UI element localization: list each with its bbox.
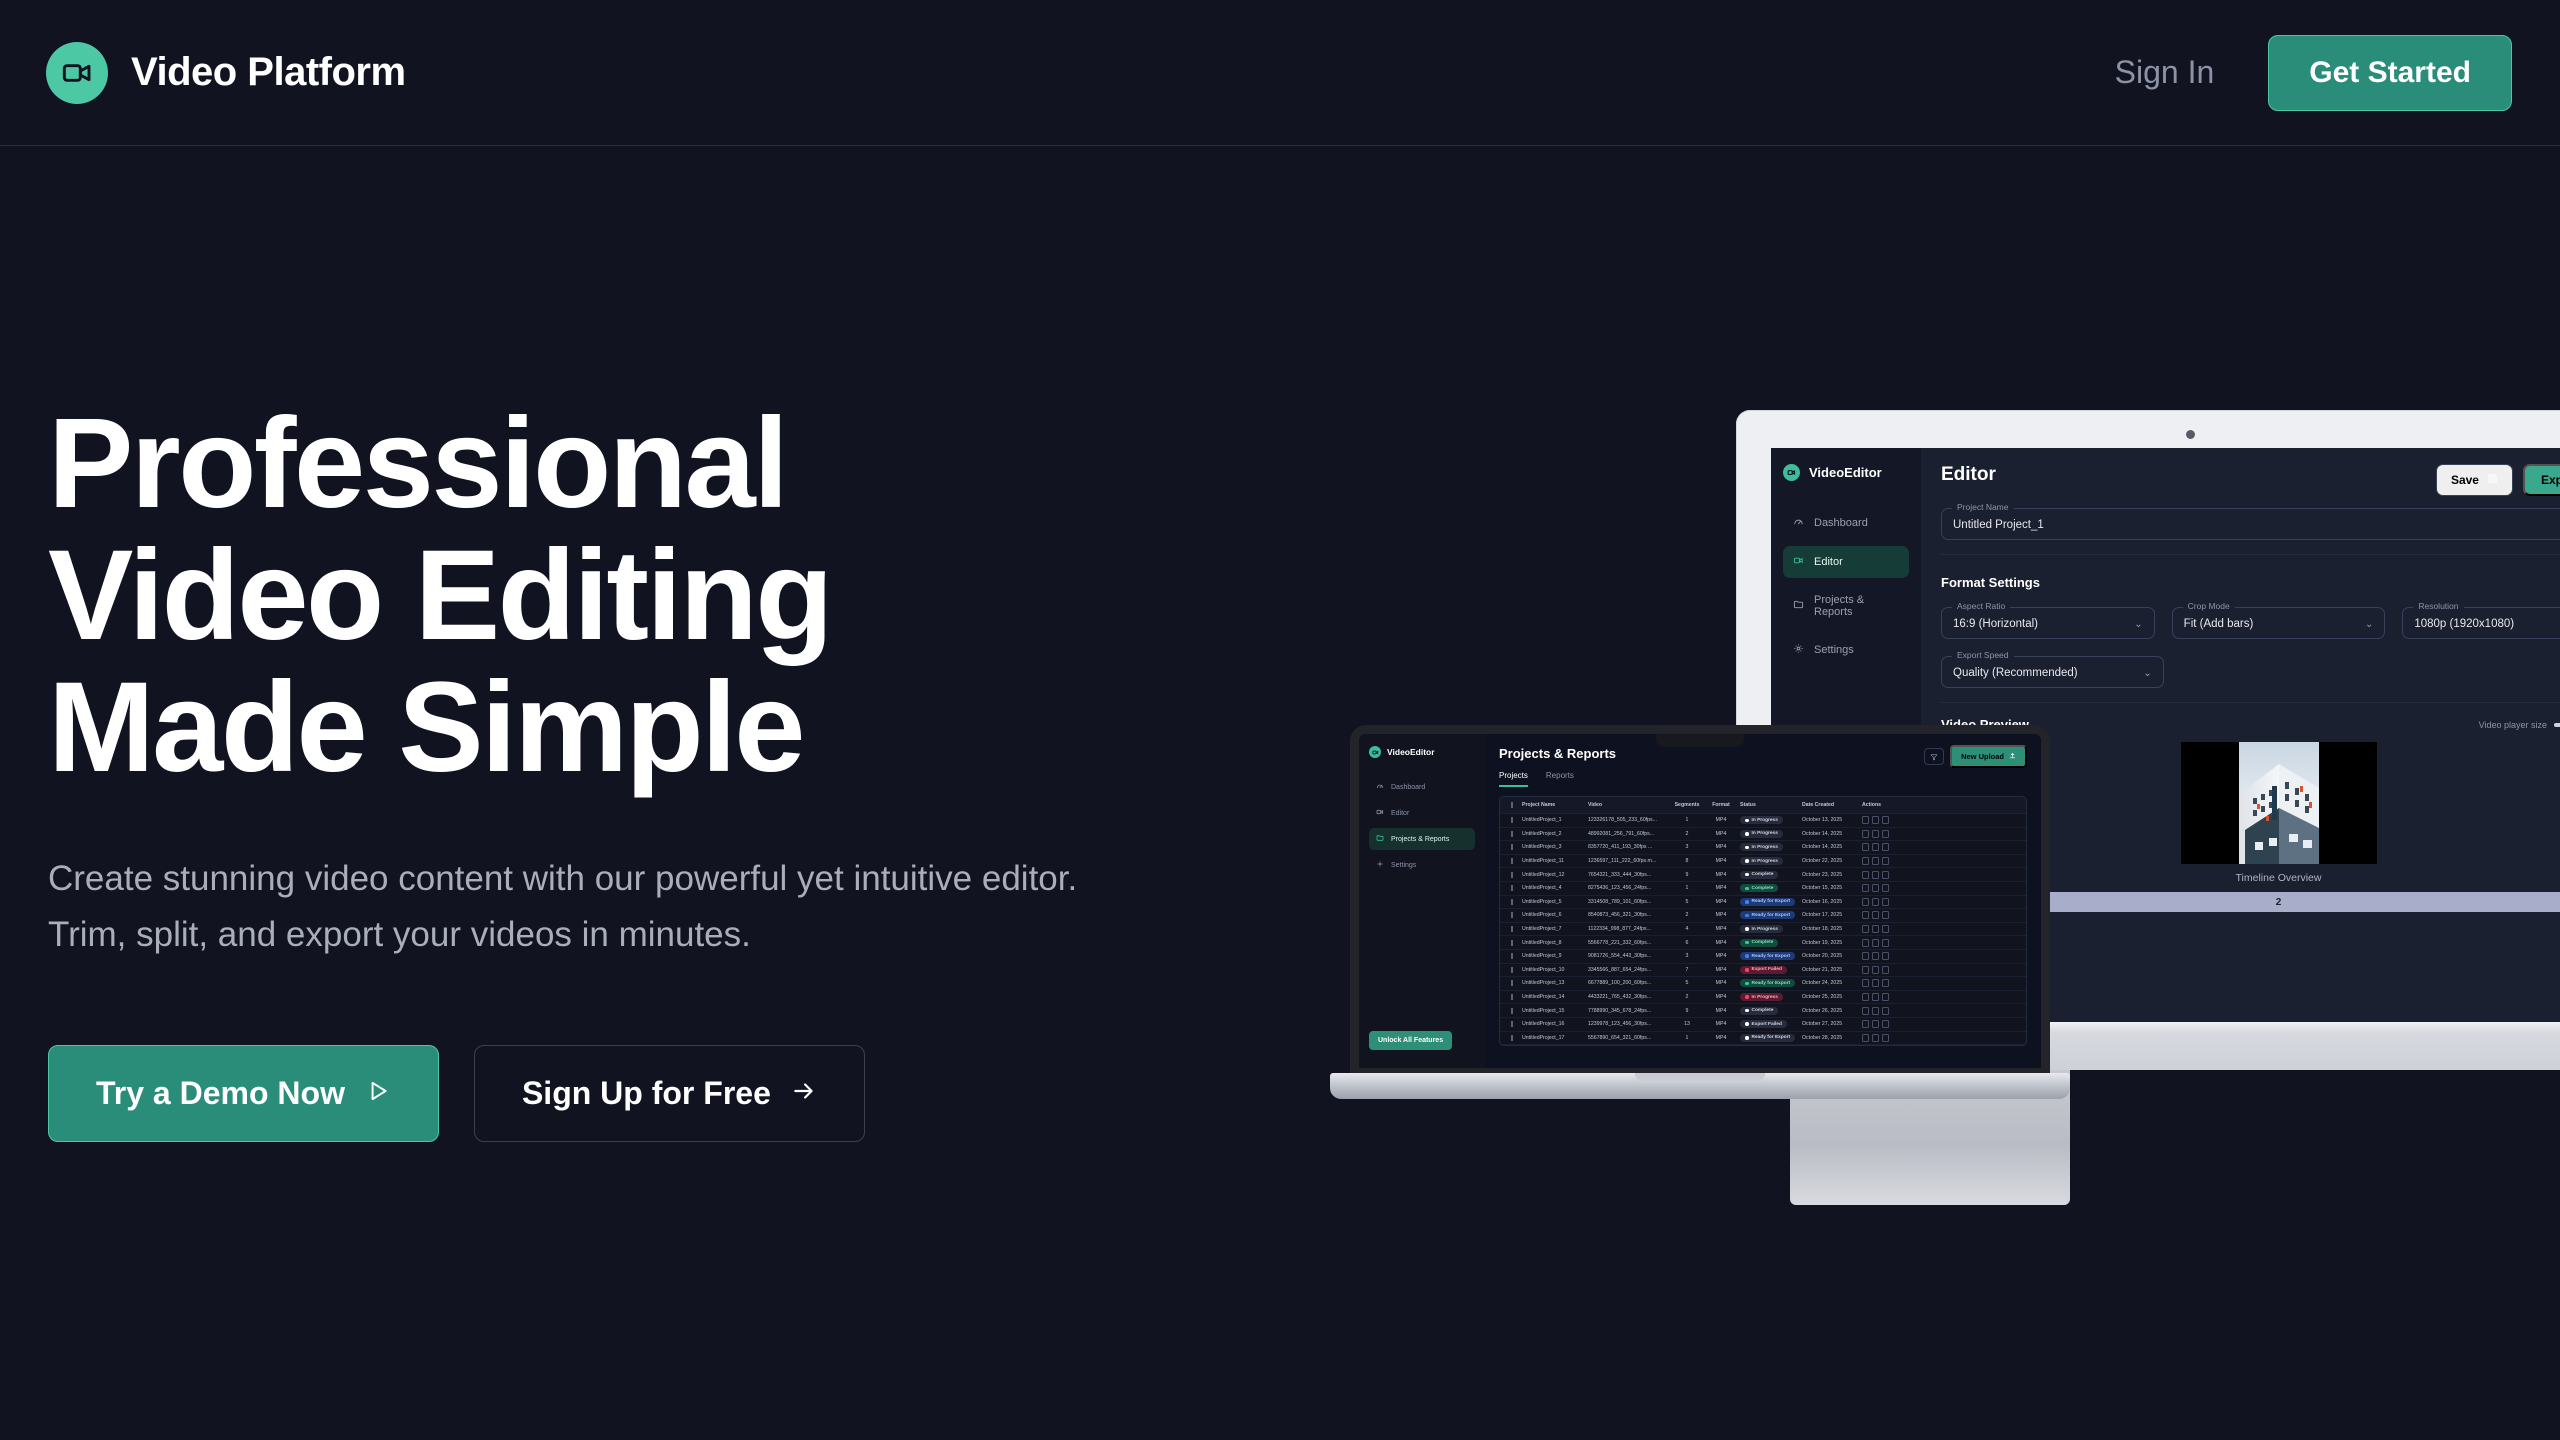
cell-status: Complete — [1737, 1007, 1799, 1015]
cell-video: 1122334_998_877_24fps... — [1585, 926, 1669, 932]
row-checkbox[interactable] — [1505, 980, 1519, 986]
download-icon[interactable] — [1872, 871, 1879, 879]
table-row[interactable]: UntitledProject_144433221_765_432_30fps.… — [1500, 991, 2026, 1005]
cell-segments: 2 — [1669, 994, 1705, 1000]
cell-project-name: UntitledProject_6 — [1519, 912, 1585, 918]
cell-format: MP4 — [1705, 831, 1737, 837]
cell-date-created: October 28, 2025 — [1799, 1035, 1859, 1041]
video-camera-icon — [1369, 746, 1381, 758]
row-checkbox[interactable] — [1505, 899, 1519, 905]
headline-line-1: Professional — [48, 398, 1128, 530]
laptop-notch — [1656, 733, 1744, 747]
status-badge: Export Failed — [1740, 966, 1787, 974]
table-row[interactable]: UntitledProject_248992081_256_791_60fps.… — [1500, 828, 2026, 842]
sidebar-label: Settings — [1814, 644, 1854, 656]
chevron-down-icon: ⌄ — [2365, 619, 2373, 630]
laptop-device: VideoEditor Dashboard Editor Projec — [1330, 725, 2070, 1125]
table-row[interactable]: UntitledProject_38357720_411_193_30fps .… — [1500, 841, 2026, 855]
sign-in-link[interactable]: Sign In — [2115, 54, 2215, 91]
cell-actions — [1859, 1007, 1901, 1015]
cell-date-created: October 14, 2025 — [1799, 844, 1859, 850]
cell-date-created: October 19, 2025 — [1799, 940, 1859, 946]
table-row[interactable]: UntitledProject_103345566_887_654_24fps.… — [1500, 964, 2026, 978]
status-badge: In Progress — [1740, 925, 1783, 933]
cell-format: MP4 — [1705, 899, 1737, 905]
download-icon[interactable] — [1872, 898, 1879, 906]
video-frame-thumbnail — [2239, 742, 2319, 864]
laptop-base — [1330, 1073, 2070, 1099]
hero-cta-row: Try a Demo Now Sign Up for Free — [48, 1045, 1128, 1142]
aspect-ratio-select[interactable]: Aspect Ratio 16:9 (Horizontal) ⌄ — [1941, 607, 2155, 639]
cell-actions — [1859, 1034, 1901, 1042]
cell-status: In Progress — [1737, 830, 1799, 838]
cell-segments: 9 — [1669, 1008, 1705, 1014]
tab-projects[interactable]: Projects — [1499, 771, 1528, 787]
sidebar-item-editor[interactable]: Editor — [1783, 546, 1909, 578]
status-badge: Export Failed — [1740, 1020, 1787, 1028]
cell-actions — [1859, 979, 1901, 987]
cell-status: Ready for Export — [1737, 979, 1799, 987]
cell-date-created: October 20, 2025 — [1799, 953, 1859, 959]
top-navbar: Video Platform Sign In Get Started — [0, 0, 2560, 146]
status-badge: Complete — [1740, 939, 1778, 947]
crop-mode-label: Crop Mode — [2183, 601, 2235, 611]
edit-icon[interactable] — [1862, 952, 1869, 960]
cell-project-name: UntitledProject_13 — [1519, 980, 1585, 986]
brand-logo-group[interactable]: Video Platform — [46, 42, 406, 104]
projects-sidebar: VideoEditor Dashboard Editor Projec — [1359, 734, 1485, 1068]
save-label: Save — [2451, 473, 2479, 487]
column-status[interactable]: Status — [1737, 802, 1799, 808]
download-icon[interactable] — [1872, 979, 1879, 987]
column-segments[interactable]: Segments — [1669, 802, 1705, 808]
cell-video: 9081726_554_443_30fps... — [1585, 953, 1669, 959]
page-title: Professional Video Editing Made Simple — [48, 398, 1128, 793]
cell-segments: 6 — [1669, 940, 1705, 946]
edit-icon[interactable] — [1862, 830, 1869, 838]
cell-actions — [1859, 816, 1901, 824]
download-icon[interactable] — [1872, 939, 1879, 947]
cell-project-name: UntitledProject_15 — [1519, 1008, 1585, 1014]
row-checkbox[interactable] — [1505, 994, 1519, 1000]
download-icon[interactable] — [1872, 1020, 1879, 1028]
cell-project-name: UntitledProject_7 — [1519, 926, 1585, 932]
laptop-screen: VideoEditor Dashboard Editor Projec — [1359, 734, 2041, 1068]
row-checkbox[interactable] — [1505, 872, 1519, 878]
cell-format: MP4 — [1705, 885, 1737, 891]
edit-icon[interactable] — [1862, 979, 1869, 987]
crop-mode-value: Fit (Add bars) — [2184, 618, 2254, 630]
cell-project-name: UntitledProject_3 — [1519, 844, 1585, 850]
floppy-disk-icon — [2487, 473, 2498, 487]
projects-app: VideoEditor Dashboard Editor Projec — [1359, 734, 2041, 1068]
row-checkbox[interactable] — [1505, 817, 1519, 823]
cell-segments: 3 — [1669, 953, 1705, 959]
projects-main: Projects & Reports New Upload Projec — [1485, 734, 2041, 1068]
cell-project-name: UntitledProject_12 — [1519, 872, 1585, 878]
table-row[interactable]: UntitledProject_157788990_345_678_24fps.… — [1500, 1004, 2026, 1018]
projects-toolbar: New Upload — [1924, 745, 2027, 768]
cell-status: Export Failed — [1737, 1020, 1799, 1028]
tab-reports[interactable]: Reports — [1546, 771, 1574, 787]
cell-date-created: October 15, 2025 — [1799, 885, 1859, 891]
crop-mode-select[interactable]: Crop Mode Fit (Add bars) ⌄ — [2172, 607, 2386, 639]
video-camera-icon — [1793, 555, 1804, 569]
sidebar-item-dashboard[interactable]: Dashboard — [1783, 507, 1909, 539]
table-row[interactable]: UntitledProject_1123326178_505_233_60fps… — [1500, 814, 2026, 828]
delete-icon[interactable] — [1882, 843, 1889, 851]
table-row[interactable]: UntitledProject_127654321_333_444_30fps.… — [1500, 868, 2026, 882]
cell-status: Complete — [1737, 871, 1799, 879]
gauge-icon — [1376, 782, 1384, 792]
sidebar-item-settings[interactable]: Settings — [1783, 634, 1909, 666]
cell-project-name: UntitledProject_9 — [1519, 953, 1585, 959]
delete-icon[interactable] — [1882, 979, 1889, 987]
cell-status: In Progress — [1737, 816, 1799, 824]
row-checkbox[interactable] — [1505, 953, 1519, 959]
sidebar-label: Projects & Reports — [1814, 594, 1899, 618]
gear-icon — [1376, 860, 1384, 870]
cell-format: MP4 — [1705, 940, 1737, 946]
column-format[interactable]: Format — [1705, 802, 1737, 808]
row-checkbox[interactable] — [1505, 885, 1519, 891]
export-speed-value: Quality (Recommended) — [1953, 667, 2078, 679]
sidebar-item-projects-reports[interactable]: Projects & Reports — [1783, 585, 1909, 627]
edit-icon[interactable] — [1862, 911, 1869, 919]
status-badge: In Progress — [1740, 857, 1783, 865]
cell-actions — [1859, 898, 1901, 906]
cell-video: 1239978_123_456_30fps... — [1585, 1021, 1669, 1027]
row-checkbox[interactable] — [1505, 940, 1519, 946]
delete-icon[interactable] — [1882, 857, 1889, 865]
headline-line-2: Video Editing — [48, 530, 1128, 662]
cell-segments: 7 — [1669, 967, 1705, 973]
edit-icon[interactable] — [1862, 884, 1869, 892]
chevron-down-icon: ⌄ — [2143, 668, 2151, 679]
projects-table: Project Name Video Segments Format Statu… — [1499, 796, 2027, 1046]
delete-icon[interactable] — [1882, 1020, 1889, 1028]
export-label: Export — [2541, 473, 2560, 487]
column-actions: Actions — [1859, 802, 1901, 808]
cell-project-name: UntitledProject_16 — [1519, 1021, 1585, 1027]
sidebar-label: Dashboard — [1814, 517, 1868, 529]
export-speed-label: Export Speed — [1952, 650, 2014, 660]
webcam-icon — [2186, 430, 2195, 439]
status-badge: Ready for Export — [1740, 911, 1795, 919]
export-speed-select[interactable]: Export Speed Quality (Recommended) ⌄ — [1941, 656, 2164, 688]
table-row[interactable]: UntitledProject_68540873_456_321_30fps..… — [1500, 909, 2026, 923]
resolution-select[interactable]: Resolution 1080p (1920x1080) ⌄ — [2402, 607, 2560, 639]
cell-project-name: UntitledProject_11 — [1519, 858, 1585, 864]
arrow-right-icon — [791, 1075, 817, 1112]
table-row[interactable]: UntitledProject_111236597_111_222_60fps.… — [1500, 855, 2026, 869]
cell-status: Complete — [1737, 939, 1799, 947]
cell-format: MP4 — [1705, 912, 1737, 918]
cell-project-name: UntitledProject_1 — [1519, 817, 1585, 823]
edit-icon[interactable] — [1862, 925, 1869, 933]
export-button[interactable]: Export — [2523, 464, 2560, 496]
edit-icon[interactable] — [1862, 993, 1869, 1001]
select-all-checkbox[interactable] — [1505, 802, 1519, 808]
cell-actions — [1859, 911, 1901, 919]
row-checkbox[interactable] — [1505, 926, 1519, 932]
status-badge: In Progress — [1740, 993, 1783, 1001]
table-row[interactable]: UntitledProject_85566778_221_332_60fps..… — [1500, 936, 2026, 950]
download-icon[interactable] — [1872, 830, 1879, 838]
row-checkbox[interactable] — [1505, 844, 1519, 850]
delete-icon[interactable] — [1882, 911, 1889, 919]
table-row[interactable]: UntitledProject_71122334_998_877_24fps..… — [1500, 923, 2026, 937]
try-demo-button[interactable]: Try a Demo Now — [48, 1045, 439, 1142]
cell-actions — [1859, 843, 1901, 851]
cell-date-created: October 22, 2025 — [1799, 858, 1859, 864]
cell-actions — [1859, 993, 1901, 1001]
editor-brand-name: VideoEditor — [1809, 465, 1882, 480]
edit-icon[interactable] — [1862, 843, 1869, 851]
gauge-icon — [1793, 516, 1804, 530]
cell-date-created: October 16, 2025 — [1799, 899, 1859, 905]
cell-segments: 1 — [1669, 885, 1705, 891]
sidebar-item-dashboard[interactable]: Dashboard — [1369, 776, 1475, 798]
cell-segments: 5 — [1669, 899, 1705, 905]
cell-segments: 2 — [1669, 831, 1705, 837]
delete-icon[interactable] — [1882, 952, 1889, 960]
cell-segments: 9 — [1669, 872, 1705, 878]
unlock-all-features-button[interactable]: Unlock All Features — [1369, 1031, 1452, 1050]
format-settings-title: Format Settings — [1941, 575, 2560, 590]
status-badge: In Progress — [1740, 830, 1783, 838]
edit-icon[interactable] — [1862, 939, 1869, 947]
resolution-label: Resolution — [2413, 601, 2463, 611]
cell-format: MP4 — [1705, 858, 1737, 864]
sign-up-free-label: Sign Up for Free — [522, 1075, 771, 1112]
cell-actions — [1859, 830, 1901, 838]
projects-tabs: Projects Reports — [1499, 771, 2027, 787]
cell-date-created: October 23, 2025 — [1799, 872, 1859, 878]
delete-icon[interactable] — [1882, 925, 1889, 933]
table-row[interactable]: UntitledProject_48275436_123_456_24fps..… — [1500, 882, 2026, 896]
download-icon[interactable] — [1872, 843, 1879, 851]
cell-date-created: October 17, 2025 — [1799, 912, 1859, 918]
delete-icon[interactable] — [1882, 993, 1889, 1001]
video-camera-icon — [46, 42, 108, 104]
status-badge: In Progress — [1740, 843, 1783, 851]
sidebar-label: Settings — [1391, 862, 1416, 869]
cell-segments: 4 — [1669, 926, 1705, 932]
save-button[interactable]: Save — [2436, 464, 2513, 496]
laptop-trackpad-notch — [1635, 1073, 1765, 1081]
cell-status: Export Failed — [1737, 966, 1799, 974]
upload-icon — [2009, 752, 2016, 761]
cell-project-name: UntitledProject_14 — [1519, 994, 1585, 1000]
edit-icon[interactable] — [1862, 857, 1869, 865]
cell-status: In Progress — [1737, 843, 1799, 851]
row-checkbox[interactable] — [1505, 1035, 1519, 1041]
column-project-name[interactable]: Project Name — [1519, 802, 1585, 808]
folder-icon — [1793, 599, 1804, 613]
cell-video: 8540873_456_321_30fps... — [1585, 912, 1669, 918]
cell-video: 5567890_654_321_60fps... — [1585, 1035, 1669, 1041]
row-checkbox[interactable] — [1505, 967, 1519, 973]
row-checkbox[interactable] — [1505, 858, 1519, 864]
gear-icon — [1793, 643, 1804, 657]
player-size-control[interactable]: Video player size — [2479, 720, 2560, 730]
sidebar-label: Editor — [1814, 556, 1843, 568]
delete-icon[interactable] — [1882, 816, 1889, 824]
format-row-1: Aspect Ratio 16:9 (Horizontal) ⌄ Crop Mo… — [1941, 607, 2560, 639]
video-player-preview[interactable] — [2181, 742, 2377, 864]
cell-segments: 13 — [1669, 1021, 1705, 1027]
cell-video: 8357720_411_193_30fps ... — [1585, 844, 1669, 850]
cell-project-name: UntitledProject_17 — [1519, 1035, 1585, 1041]
delete-icon[interactable] — [1882, 939, 1889, 947]
row-checkbox[interactable] — [1505, 1008, 1519, 1014]
download-icon[interactable] — [1872, 1007, 1879, 1015]
cell-format: MP4 — [1705, 994, 1737, 1000]
cell-format: MP4 — [1705, 1035, 1737, 1041]
edit-icon[interactable] — [1862, 816, 1869, 824]
column-video[interactable]: Video — [1585, 802, 1669, 808]
folder-icon — [1376, 834, 1384, 844]
cell-format: MP4 — [1705, 967, 1737, 973]
project-name-value: Untitled Project_1 — [1953, 519, 2044, 531]
delete-icon[interactable] — [1882, 1034, 1889, 1042]
cell-segments: 1 — [1669, 1035, 1705, 1041]
row-checkbox[interactable] — [1505, 1021, 1519, 1027]
nav-actions: Sign In Get Started — [2115, 35, 2512, 111]
cell-date-created: October 24, 2025 — [1799, 980, 1859, 986]
edit-icon[interactable] — [1862, 871, 1869, 879]
cell-format: MP4 — [1705, 926, 1737, 932]
table-header-row: Project Name Video Segments Format Statu… — [1500, 797, 2026, 814]
table-row[interactable]: UntitledProject_136677889_100_200_60fps.… — [1500, 977, 2026, 991]
download-icon[interactable] — [1872, 857, 1879, 865]
table-body: UntitledProject_1123326178_505_233_60fps… — [1500, 814, 2026, 1045]
delete-icon[interactable] — [1882, 830, 1889, 838]
sidebar-item-projects-reports[interactable]: Projects & Reports — [1369, 828, 1475, 850]
brand-name: Video Platform — [131, 50, 406, 95]
delete-icon[interactable] — [1882, 1007, 1889, 1015]
table-row[interactable]: UntitledProject_175567890_654_321_60fps.… — [1500, 1032, 2026, 1046]
edit-icon[interactable] — [1862, 898, 1869, 906]
download-icon[interactable] — [1872, 1034, 1879, 1042]
hero-subheadline: Create stunning video content with our p… — [48, 851, 1108, 963]
cell-actions — [1859, 952, 1901, 960]
cell-format: MP4 — [1705, 844, 1737, 850]
delete-icon[interactable] — [1882, 898, 1889, 906]
sign-up-free-button[interactable]: Sign Up for Free — [474, 1045, 865, 1142]
cell-actions — [1859, 871, 1901, 879]
download-icon[interactable] — [1872, 952, 1879, 960]
cell-actions — [1859, 1020, 1901, 1028]
download-icon[interactable] — [1872, 884, 1879, 892]
project-name-label: Project Name — [1952, 502, 2014, 512]
cell-date-created: October 27, 2025 — [1799, 1021, 1859, 1027]
download-icon[interactable] — [1872, 911, 1879, 919]
delete-icon[interactable] — [1882, 966, 1889, 974]
table-row[interactable]: UntitledProject_53314508_789_101_60fps..… — [1500, 896, 2026, 910]
player-size-slider[interactable] — [2554, 723, 2560, 727]
cell-video: 7654321_333_444_30fps... — [1585, 872, 1669, 878]
sidebar-item-editor[interactable]: Editor — [1369, 802, 1475, 824]
delete-icon[interactable] — [1882, 871, 1889, 879]
project-name-field[interactable]: Project Name Untitled Project_1 — [1941, 508, 2560, 540]
video-camera-icon — [1783, 464, 1800, 481]
divider — [1941, 554, 2560, 555]
filter-icon[interactable] — [1924, 748, 1944, 765]
status-badge: Complete — [1740, 871, 1778, 879]
video-camera-icon — [1376, 808, 1384, 818]
cell-project-name: UntitledProject_10 — [1519, 967, 1585, 973]
edit-icon[interactable] — [1862, 1034, 1869, 1042]
new-upload-label: New Upload — [1961, 752, 2004, 761]
sidebar-label: Editor — [1391, 810, 1409, 817]
try-demo-label: Try a Demo Now — [96, 1075, 345, 1112]
cell-status: In Progress — [1737, 857, 1799, 865]
cell-video: 7788990_345_678_24fps... — [1585, 1008, 1669, 1014]
cell-date-created: October 18, 2025 — [1799, 926, 1859, 932]
download-icon[interactable] — [1872, 925, 1879, 933]
get-started-button[interactable]: Get Started — [2268, 35, 2512, 111]
cell-date-created: October 26, 2025 — [1799, 1008, 1859, 1014]
editor-brand: VideoEditor — [1783, 464, 1909, 481]
format-row-2: Export Speed Quality (Recommended) ⌄ — [1941, 656, 2560, 688]
cell-actions — [1859, 884, 1901, 892]
status-badge: Ready for Export — [1740, 1034, 1795, 1042]
cell-status: In Progress — [1737, 993, 1799, 1001]
cell-format: MP4 — [1705, 817, 1737, 823]
edit-icon[interactable] — [1862, 966, 1869, 974]
cell-status: Ready for Export — [1737, 952, 1799, 960]
chevron-down-icon: ⌄ — [2134, 619, 2142, 630]
cell-segments: 5 — [1669, 980, 1705, 986]
cell-video: 48992081_256_791_60fps... — [1585, 831, 1669, 837]
cell-actions — [1859, 966, 1901, 974]
download-icon[interactable] — [1872, 816, 1879, 824]
laptop-lid: VideoEditor Dashboard Editor Projec — [1350, 725, 2050, 1077]
divider — [1941, 702, 2560, 703]
cell-format: MP4 — [1705, 980, 1737, 986]
cell-project-name: UntitledProject_4 — [1519, 885, 1585, 891]
cell-format: MP4 — [1705, 1021, 1737, 1027]
new-upload-button[interactable]: New Upload — [1950, 745, 2027, 768]
cell-project-name: UntitledProject_2 — [1519, 831, 1585, 837]
cell-status: Ready for Export — [1737, 911, 1799, 919]
timeline-value: 2 — [2276, 897, 2282, 908]
delete-icon[interactable] — [1882, 884, 1889, 892]
cell-segments: 8 — [1669, 858, 1705, 864]
sidebar-item-settings[interactable]: Settings — [1369, 854, 1475, 876]
edit-icon[interactable] — [1862, 1007, 1869, 1015]
cell-format: MP4 — [1705, 953, 1737, 959]
table-row[interactable]: UntitledProject_99081726_554_443_30fps..… — [1500, 950, 2026, 964]
cell-date-created: October 25, 2025 — [1799, 994, 1859, 1000]
row-checkbox[interactable] — [1505, 912, 1519, 918]
cell-video: 4433221_765_432_30fps... — [1585, 994, 1669, 1000]
cell-project-name: UntitledProject_5 — [1519, 899, 1585, 905]
download-icon[interactable] — [1872, 966, 1879, 974]
table-row[interactable]: UntitledProject_161239978_123_456_30fps.… — [1500, 1018, 2026, 1032]
status-badge: Ready for Export — [1740, 979, 1795, 987]
row-checkbox[interactable] — [1505, 831, 1519, 837]
column-date-created[interactable]: Date Created — [1799, 802, 1859, 808]
status-badge: Complete — [1740, 1007, 1778, 1015]
cell-format: MP4 — [1705, 872, 1737, 878]
edit-icon[interactable] — [1862, 1020, 1869, 1028]
cell-status: In Progress — [1737, 925, 1799, 933]
download-icon[interactable] — [1872, 993, 1879, 1001]
cell-segments: 1 — [1669, 817, 1705, 823]
